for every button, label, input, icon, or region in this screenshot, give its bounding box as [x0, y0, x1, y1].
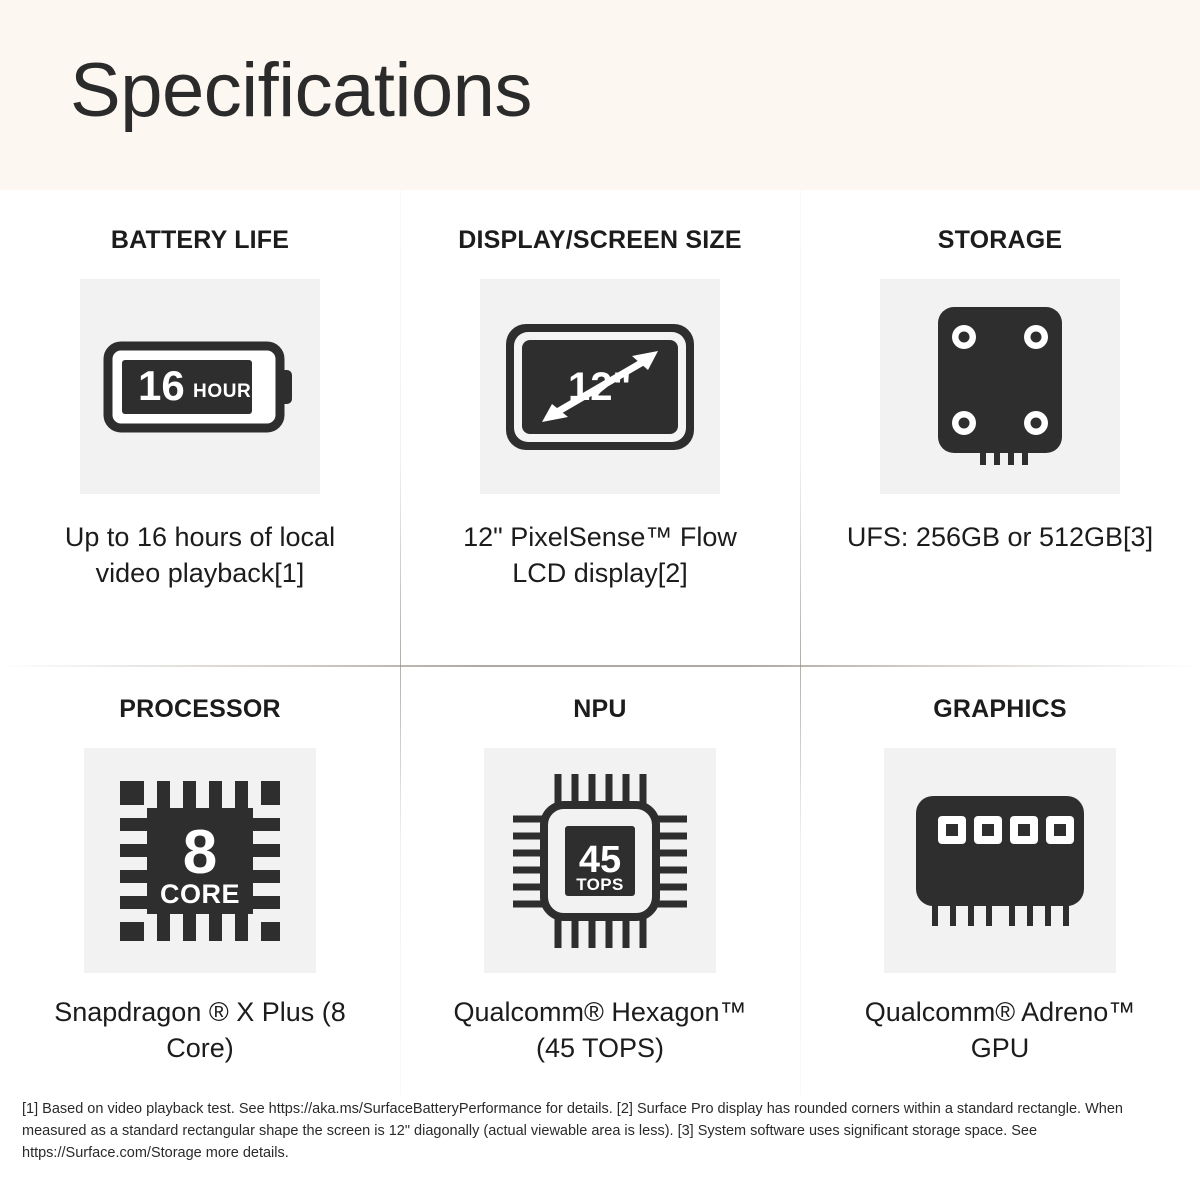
- spec-label-display: DISPLAY/SCREEN SIZE: [458, 226, 742, 255]
- grid-divider-vertical-right: [800, 190, 801, 1095]
- display-icon-value: 12": [568, 365, 631, 409]
- icon-tile-storage: [880, 279, 1120, 494]
- cpu-chip-icon: 8 CORE: [116, 777, 284, 945]
- spec-card-graphics: GRAPHICS: [800, 665, 1200, 1095]
- icon-tile-display: 12": [480, 279, 720, 494]
- icon-tile-processor: 8 CORE: [84, 748, 316, 973]
- battery-icon-unit: HOURS: [193, 381, 265, 402]
- header-band: Specifications: [0, 0, 1200, 190]
- battery-icon-value: 16: [138, 362, 185, 409]
- storage-chip-icon: [932, 303, 1068, 471]
- spec-card-storage: STORAGE UFS: 256GB or: [800, 190, 1200, 665]
- page-title: Specifications: [70, 53, 532, 137]
- spec-card-processor: PROCESSOR: [0, 665, 400, 1095]
- cpu-icon-value: 8: [183, 818, 217, 887]
- spec-description-processor: Snapdragon ® X Plus (8 Core): [35, 995, 365, 1067]
- display-diagonal-icon: 12": [500, 316, 700, 458]
- spec-label-npu: NPU: [573, 695, 626, 724]
- spec-label-battery-life: BATTERY LIFE: [111, 226, 289, 255]
- spec-card-display: DISPLAY/SCREEN SIZE 12" 12" PixelSense™ …: [400, 190, 800, 665]
- grid-divider-vertical-left: [400, 190, 401, 1095]
- spec-label-storage: STORAGE: [938, 226, 1063, 255]
- spec-card-battery-life: BATTERY LIFE 16 HOURS Up to 16 hours of …: [0, 190, 400, 665]
- icon-tile-npu: 45 TOPS: [484, 748, 716, 973]
- spec-label-graphics: GRAPHICS: [933, 695, 1067, 724]
- grid-divider-horizontal: [0, 665, 1200, 667]
- spec-grid: BATTERY LIFE 16 HOURS Up to 16 hours of …: [0, 190, 1200, 1095]
- icon-tile-battery-life: 16 HOURS: [80, 279, 320, 494]
- spec-description-display: 12" PixelSense™ Flow LCD display[2]: [435, 520, 765, 592]
- npu-icon-unit: TOPS: [576, 875, 624, 894]
- cpu-icon-unit: CORE: [160, 879, 240, 909]
- spec-description-graphics: Qualcomm® Adreno™ GPU: [835, 995, 1165, 1067]
- npu-chip-icon: 45 TOPS: [507, 768, 693, 954]
- spec-card-npu: NPU: [400, 665, 800, 1095]
- battery-icon: 16 HOURS: [100, 332, 300, 442]
- spec-description-battery-life: Up to 16 hours of local video playback[1…: [35, 520, 365, 592]
- footnote-text: [1] Based on video playback test. See ht…: [22, 1098, 1180, 1164]
- spec-description-npu: Qualcomm® Hexagon™ (45 TOPS): [435, 995, 765, 1067]
- spec-description-storage: UFS: 256GB or 512GB[3]: [847, 520, 1153, 556]
- icon-tile-graphics: [884, 748, 1116, 973]
- spec-label-processor: PROCESSOR: [119, 695, 281, 724]
- gpu-memory-icon: [912, 790, 1088, 932]
